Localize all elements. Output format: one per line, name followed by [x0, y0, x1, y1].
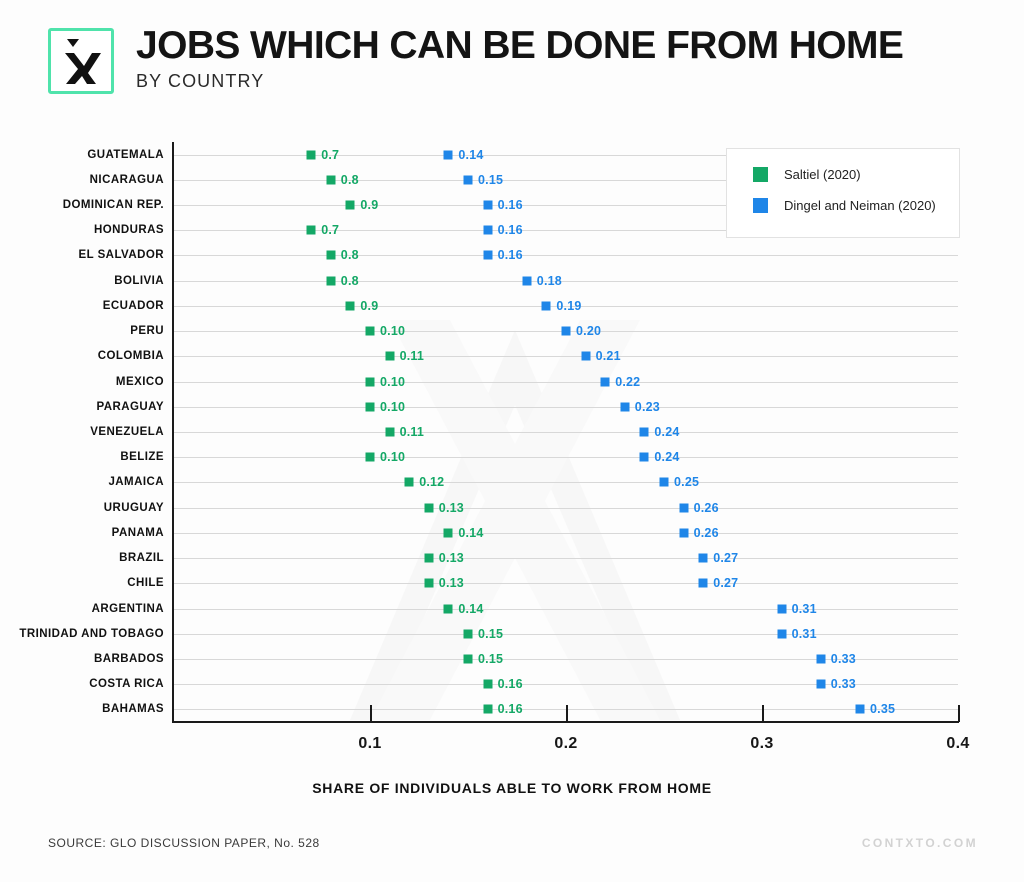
data-point[interactable] — [307, 226, 316, 235]
data-point[interactable] — [464, 654, 473, 663]
data-point-label: 0.13 — [439, 551, 464, 565]
data-point[interactable] — [483, 201, 492, 210]
legend-label-dingel-neiman: Dingel and Neiman (2020) — [784, 198, 936, 213]
data-point-label: 0.21 — [596, 349, 621, 363]
gridline — [174, 634, 958, 635]
category-label: EL SALVADOR — [0, 249, 164, 261]
category-label: BAHAMAS — [0, 703, 164, 715]
category-label: ARGENTINA — [0, 603, 164, 615]
data-point-label: 0.27 — [713, 576, 738, 590]
data-point-label: 0.19 — [556, 299, 581, 313]
gridline — [174, 281, 958, 282]
category-label: HONDURAS — [0, 224, 164, 236]
data-point-label: 0.11 — [400, 349, 424, 363]
data-point[interactable] — [601, 377, 610, 386]
data-point[interactable] — [424, 554, 433, 563]
category-label: NICARAGUA — [0, 174, 164, 186]
gridline — [174, 255, 958, 256]
data-point-label: 0.26 — [694, 526, 719, 540]
data-point[interactable] — [777, 629, 786, 638]
gridline — [174, 432, 958, 433]
data-point-label: 0.10 — [380, 324, 405, 338]
data-point-label: 0.22 — [615, 375, 640, 389]
category-label: URUGUAY — [0, 502, 164, 514]
x-axis-tick-label: 0.4 — [946, 735, 969, 753]
category-label: BOLIVIA — [0, 275, 164, 287]
data-point[interactable] — [366, 377, 375, 386]
data-point-label: 0.16 — [498, 223, 523, 237]
data-point-label: 0.7 — [321, 148, 339, 162]
scatter-chart: 0.70.140.80.150.90.160.70.160.80.160.80.… — [0, 0, 1024, 882]
data-point[interactable] — [464, 629, 473, 638]
data-point[interactable] — [444, 528, 453, 537]
data-point-label: 0.14 — [458, 602, 483, 616]
x-axis-tick — [566, 705, 568, 722]
data-point-label: 0.15 — [478, 173, 503, 187]
data-point-label: 0.13 — [439, 576, 464, 590]
source-note: SOURCE: GLO DISCUSSION PAPER, No. 528 — [48, 836, 320, 850]
legend-label-saltiel: Saltiel (2020) — [784, 167, 861, 182]
gridline — [174, 457, 958, 458]
data-point-label: 0.20 — [576, 324, 601, 338]
legend-item-saltiel[interactable]: Saltiel (2020) — [753, 167, 959, 182]
data-point[interactable] — [424, 579, 433, 588]
gridline — [174, 583, 958, 584]
category-label: TRINIDAD AND TOBAGO — [0, 628, 164, 640]
data-point[interactable] — [620, 402, 629, 411]
data-point[interactable] — [856, 705, 865, 714]
data-point[interactable] — [679, 528, 688, 537]
gridline — [174, 609, 958, 610]
data-point[interactable] — [660, 478, 669, 487]
data-point[interactable] — [366, 327, 375, 336]
category-label: COSTA RICA — [0, 678, 164, 690]
data-point-label: 0.26 — [694, 501, 719, 515]
data-point[interactable] — [562, 327, 571, 336]
data-point-label: 0.14 — [458, 526, 483, 540]
gridline — [174, 533, 958, 534]
data-point[interactable] — [366, 453, 375, 462]
data-point-label: 0.16 — [498, 702, 523, 716]
data-point-label: 0.35 — [870, 702, 895, 716]
data-point-label: 0.9 — [360, 299, 378, 313]
data-point-label: 0.16 — [498, 248, 523, 262]
category-label: GUATEMALA — [0, 149, 164, 161]
data-point-label: 0.14 — [458, 148, 483, 162]
data-point-label: 0.16 — [498, 198, 523, 212]
gridline — [174, 356, 958, 357]
data-point[interactable] — [307, 150, 316, 159]
data-point-label: 0.13 — [439, 501, 464, 515]
data-point-label: 0.15 — [478, 652, 503, 666]
category-label: PERU — [0, 325, 164, 337]
data-point-label: 0.24 — [654, 425, 679, 439]
category-label: BRAZIL — [0, 552, 164, 564]
data-point[interactable] — [699, 579, 708, 588]
data-point[interactable] — [346, 201, 355, 210]
data-point[interactable] — [424, 503, 433, 512]
data-point[interactable] — [640, 453, 649, 462]
category-label: BELIZE — [0, 451, 164, 463]
chart-legend: Saltiel (2020) Dingel and Neiman (2020) — [726, 148, 960, 238]
data-point-label: 0.10 — [380, 400, 405, 414]
data-point[interactable] — [326, 276, 335, 285]
legend-swatch-blue-icon — [753, 198, 768, 213]
data-point[interactable] — [405, 478, 414, 487]
data-point-label: 0.7 — [321, 223, 339, 237]
category-label: COLOMBIA — [0, 350, 164, 362]
data-point-label: 0.33 — [831, 677, 856, 691]
data-point[interactable] — [640, 428, 649, 437]
data-point[interactable] — [326, 175, 335, 184]
infographic-page: JOBS WHICH CAN BE DONE FROM HOME BY COUN… — [0, 0, 1024, 882]
x-axis-tick-label: 0.3 — [750, 735, 773, 753]
category-label: JAMAICA — [0, 476, 164, 488]
legend-item-dingel-neiman[interactable]: Dingel and Neiman (2020) — [753, 198, 959, 213]
data-point[interactable] — [483, 680, 492, 689]
gridline — [174, 558, 958, 559]
category-label: BARBADOS — [0, 653, 164, 665]
x-axis-title: SHARE OF INDIVIDUALS ABLE TO WORK FROM H… — [0, 780, 1024, 796]
data-point-label: 0.11 — [400, 425, 424, 439]
data-point[interactable] — [522, 276, 531, 285]
brand-watermark-text: CONTXTO.COM — [862, 836, 978, 850]
x-axis-tick — [762, 705, 764, 722]
category-label: VENEZUELA — [0, 426, 164, 438]
data-point-label: 0.12 — [419, 475, 444, 489]
gridline — [174, 382, 958, 383]
data-point-label: 0.10 — [380, 450, 405, 464]
data-point-label: 0.8 — [341, 274, 359, 288]
data-point[interactable] — [777, 604, 786, 613]
data-point-label: 0.8 — [341, 173, 359, 187]
data-point-label: 0.27 — [713, 551, 738, 565]
category-label: PANAMA — [0, 527, 164, 539]
data-point-label: 0.23 — [635, 400, 660, 414]
x-axis-tick — [958, 705, 960, 722]
data-point[interactable] — [699, 554, 708, 563]
data-point[interactable] — [346, 301, 355, 310]
category-label: ECUADOR — [0, 300, 164, 312]
gridline — [174, 508, 958, 509]
data-point[interactable] — [385, 352, 394, 361]
data-point-label: 0.31 — [792, 602, 817, 616]
category-label: PARAGUAY — [0, 401, 164, 413]
data-point[interactable] — [326, 251, 335, 260]
data-point-label: 0.31 — [792, 627, 817, 641]
x-axis-tick-label: 0.2 — [554, 735, 577, 753]
data-point-label: 0.8 — [341, 248, 359, 262]
data-point-label: 0.15 — [478, 627, 503, 641]
legend-swatch-green-icon — [753, 167, 768, 182]
data-point[interactable] — [483, 705, 492, 714]
data-point-label: 0.9 — [360, 198, 378, 212]
data-point-label: 0.18 — [537, 274, 562, 288]
data-point[interactable] — [483, 226, 492, 235]
gridline — [174, 482, 958, 483]
data-point-label: 0.33 — [831, 652, 856, 666]
category-label: DOMINICAN REP. — [0, 199, 164, 211]
data-point[interactable] — [816, 654, 825, 663]
data-point-label: 0.16 — [498, 677, 523, 691]
data-point[interactable] — [581, 352, 590, 361]
data-point-label: 0.25 — [674, 475, 699, 489]
data-point-label: 0.24 — [654, 450, 679, 464]
data-point[interactable] — [679, 503, 688, 512]
gridline — [174, 407, 958, 408]
y-axis-line — [172, 142, 174, 722]
category-label: MEXICO — [0, 376, 164, 388]
data-point[interactable] — [816, 680, 825, 689]
data-point[interactable] — [444, 150, 453, 159]
data-point[interactable] — [444, 604, 453, 613]
data-point[interactable] — [542, 301, 551, 310]
data-point[interactable] — [385, 428, 394, 437]
data-point-label: 0.10 — [380, 375, 405, 389]
x-axis-tick-label: 0.1 — [358, 735, 381, 753]
data-point[interactable] — [464, 175, 473, 184]
data-point[interactable] — [483, 251, 492, 260]
x-axis-tick — [370, 705, 372, 722]
category-label: CHILE — [0, 577, 164, 589]
data-point[interactable] — [366, 402, 375, 411]
